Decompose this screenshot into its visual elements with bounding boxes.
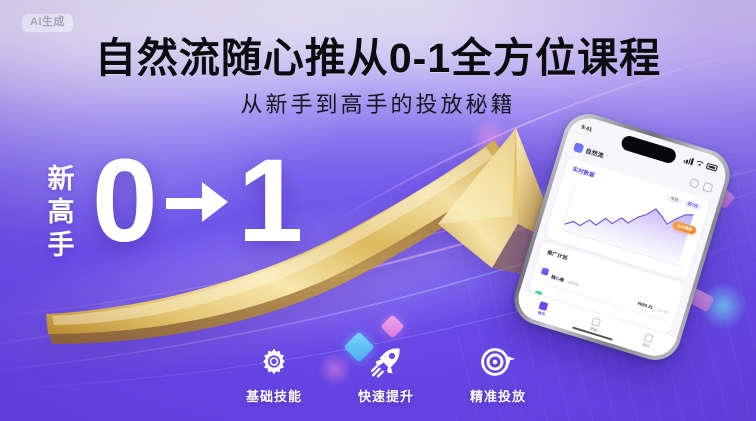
target-icon [480,345,516,379]
list-item-delta: +12.4% [657,307,670,314]
data-icon [591,317,601,327]
page-subtitle: 从新手到高手的投放秘籍 [0,92,756,118]
tab-label: 我的 [642,343,650,350]
home-icon [539,301,549,311]
hero-one: 1 [238,150,304,254]
feature-row: 基础技能 快速提升 [238,345,534,405]
plan-icon [541,267,550,276]
feature-label: 快速提升 [358,386,414,405]
tab-label: 首页 [537,311,545,318]
ai-generated-watermark: AI生成 [22,14,73,32]
menu-icon[interactable] [702,181,713,192]
feature-item-growth[interactable]: 快速提升 [350,345,422,405]
rocket-icon [369,345,403,379]
search-icon[interactable] [689,177,700,188]
battery-icon [706,163,718,171]
list-item-status: 进行中 [568,280,579,287]
status-time: 9:41 [580,124,592,133]
feature-item-targeting[interactable]: 精准投放 [462,345,534,405]
list-item-value: ¥682.21 [637,300,654,309]
feature-label: 精准投放 [470,386,526,405]
tab-profile[interactable]: 我的 [641,333,653,349]
app-header-actions[interactable] [689,177,714,192]
signal-icon [683,155,694,164]
chart-range-option-active[interactable]: 近7日 [683,199,702,211]
chart-range-option[interactable]: 今日 [666,194,682,205]
poster-canvas: AI生成 自然流随心推从0-1全方位课程 从新手到高手的投放秘籍 新 高 手 [0,0,756,421]
list-item-name: 随心推 [551,274,565,283]
profile-icon [643,333,653,343]
gear-icon [258,345,290,379]
feature-item-skills[interactable]: 基础技能 [238,345,310,405]
app-brand-name: 自然流 [585,145,605,159]
right-arrow-icon [166,182,230,222]
app-brand: 自然流 [573,142,605,160]
app-logo-icon [573,142,584,153]
feature-label: 基础技能 [246,386,302,405]
hero-zero: 0 [92,150,158,254]
tab-home[interactable]: 首页 [537,301,549,317]
wifi-icon [695,160,704,168]
zero-to-one-hero: 0 1 [92,150,303,254]
page-title: 自然流随心推从0-1全方位课程 [0,36,756,82]
